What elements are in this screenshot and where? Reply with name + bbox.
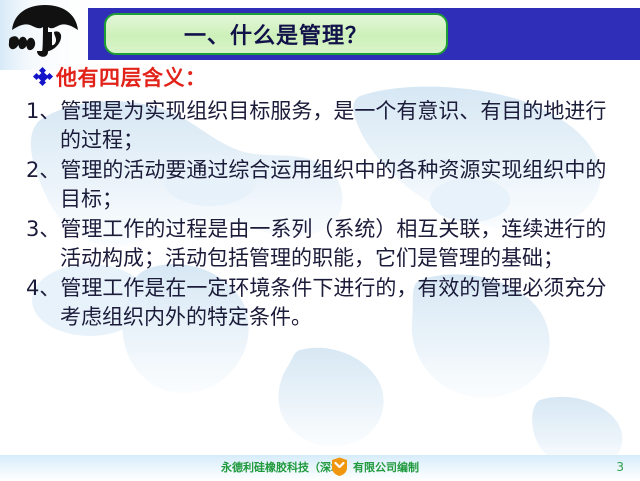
footer-text: 永德利硅橡胶科技（深圳）有限公司编制 <box>0 459 640 475</box>
slide-canvas: 一、什么是管理？ 他有四层含义： 1、管理是为实现组织目标服务，是一个有意识、有… <box>0 0 640 481</box>
company-badge-icon <box>329 456 350 477</box>
diamond-bullet-icon <box>34 68 52 86</box>
content-heading-row: 他有四层含义： <box>34 62 626 92</box>
slide-content: 他有四层含义： 1、管理是为实现组织目标服务，是一个有意识、有目的地进行的过程；… <box>26 62 626 333</box>
page-number: 3 <box>616 460 624 474</box>
page-title: 一、什么是管理？ <box>184 18 368 50</box>
slide-title-box: 一、什么是管理？ <box>104 13 448 55</box>
list-item: 1、管理是为实现组织目标服务，是一个有意识、有目的地进行的过程； <box>26 97 626 155</box>
list-item: 2、管理的活动要通过综合运用组织中的各种资源实现组织中的目标； <box>26 156 626 214</box>
list-item: 4、管理工作是在一定环境条件下进行的，有效的管理必须充分考虑组织内外的特定条件。 <box>26 274 626 332</box>
list-item: 3、管理工作的过程是由一系列（系统）相互关联，连续进行的活动构成；活动包括管理的… <box>26 215 626 273</box>
content-heading: 他有四层含义： <box>56 62 207 92</box>
company-umbrella-logo <box>2 2 88 60</box>
